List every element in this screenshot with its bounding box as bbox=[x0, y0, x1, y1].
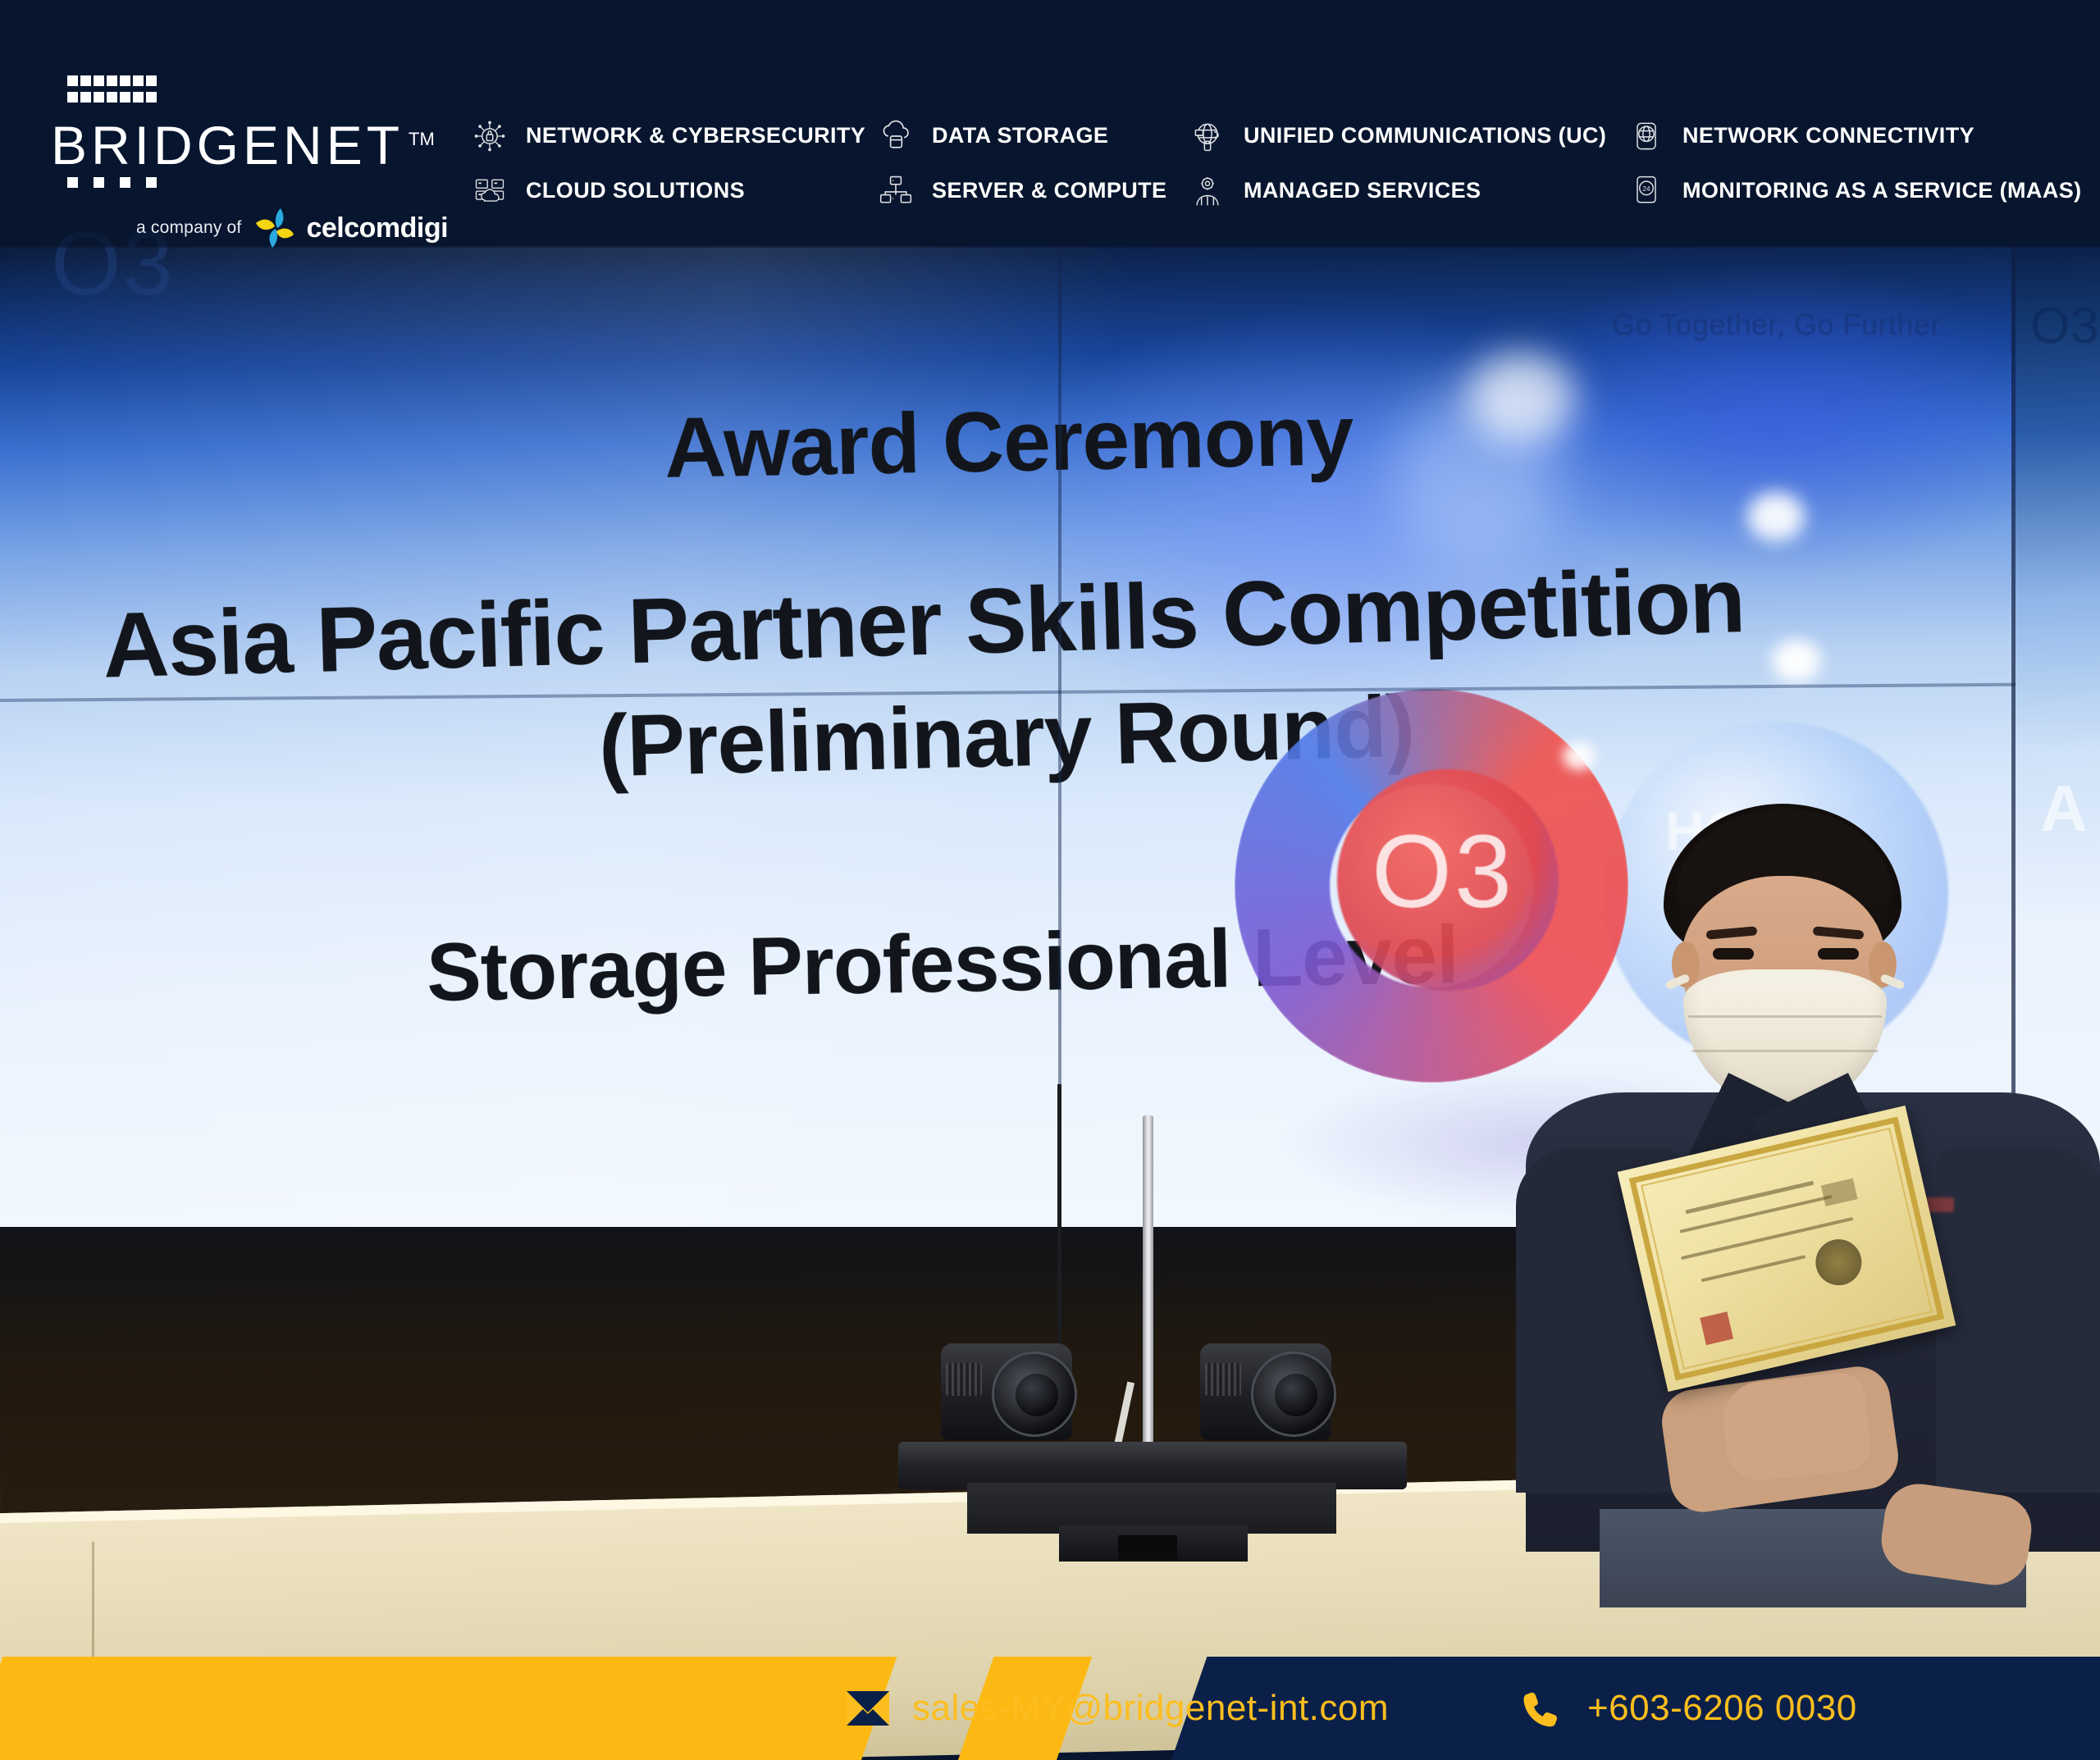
bridgenet-dot-grid-icon bbox=[67, 75, 231, 112]
brand-name: BRIDGENETTM bbox=[51, 118, 436, 172]
brand-mark-o3-label: O3 bbox=[1372, 812, 1514, 931]
phone-handset-icon bbox=[1520, 1688, 1566, 1729]
brand-name-text: BRIDGENET bbox=[51, 115, 404, 176]
promo-banner-page: O3 Go Together, Go Further Award Ceremon… bbox=[0, 0, 2100, 1760]
slide-title: Award Ceremony bbox=[664, 387, 1354, 498]
footer-email-text: sales-MY@bridgenet-int.com bbox=[912, 1688, 1389, 1729]
nav-label: DATA STORAGE bbox=[932, 123, 1108, 148]
footer-phone-contact[interactable]: +603-6206 0030 bbox=[1520, 1688, 1857, 1729]
conference-camera-rig bbox=[898, 1115, 1407, 1558]
slide-tagline: Go Together, Go Further bbox=[1612, 308, 1941, 342]
ptz-camera-left-icon bbox=[941, 1320, 1101, 1452]
nav-item-managed-services[interactable]: MANAGED SERVICES bbox=[1189, 173, 1628, 209]
svg-text:24: 24 bbox=[1642, 185, 1650, 193]
secondary-panel-o3: O3 bbox=[2030, 297, 2100, 355]
nav-label: MANAGED SERVICES bbox=[1244, 178, 1481, 203]
celcomdigi-logo[interactable]: celcomdigi bbox=[253, 207, 448, 249]
nav-item-data-storage[interactable]: DATA STORAGE bbox=[878, 118, 1189, 154]
nav-item-server-compute[interactable]: SERVER & COMPUTE bbox=[878, 173, 1189, 209]
nav-label: MONITORING AS A SERVICE (MAAS) bbox=[1682, 178, 2082, 203]
brand-lockup[interactable]: BRIDGENETTM a company of ce bbox=[51, 75, 436, 249]
envelope-icon bbox=[845, 1688, 891, 1729]
network-security-lock-icon bbox=[472, 118, 508, 154]
service-nav-grid: NETWORK & CYBERSECURITY DATA STORAGE bbox=[472, 108, 2043, 218]
cloud-servers-icon bbox=[472, 173, 508, 209]
ptz-camera-right-icon bbox=[1200, 1320, 1360, 1452]
managed-services-gear-icon bbox=[1189, 173, 1226, 209]
brand-trademark: TM bbox=[409, 129, 435, 149]
parent-company-prefix: a company of bbox=[136, 218, 241, 238]
celcomdigi-wordmark: celcomdigi bbox=[306, 212, 448, 244]
cloud-storage-icon bbox=[878, 118, 914, 154]
nav-label: UNIFIED COMMUNICATIONS (UC) bbox=[1244, 123, 1606, 148]
nav-item-unified-communications[interactable]: UNIFIED COMMUNICATIONS (UC) bbox=[1189, 118, 1628, 154]
footer-contacts: sales-MY@bridgenet-int.com +603-6206 003… bbox=[0, 1657, 2100, 1760]
nav-item-network-connectivity[interactable]: NETWORK CONNECTIVITY bbox=[1628, 118, 2043, 154]
page-header: BRIDGENETTM a company of ce bbox=[0, 0, 2100, 248]
nav-item-monitoring-as-a-service[interactable]: 24 MONITORING AS A SERVICE (MAAS) bbox=[1628, 173, 2043, 209]
nav-item-cloud-solutions[interactable]: CLOUD SOLUTIONS bbox=[472, 173, 878, 209]
celcomdigi-mark-icon bbox=[253, 207, 299, 249]
video-wall-seam-vertical bbox=[1058, 246, 1061, 1230]
nav-label: NETWORK CONNECTIVITY bbox=[1682, 123, 1974, 148]
footer-phone-text: +603-6206 0030 bbox=[1587, 1688, 1857, 1729]
nav-label: SERVER & COMPUTE bbox=[932, 178, 1166, 203]
rig-base-slot bbox=[1118, 1535, 1177, 1560]
footer-email-contact[interactable]: sales-MY@bridgenet-int.com bbox=[845, 1688, 1389, 1729]
nav-label: CLOUD SOLUTIONS bbox=[526, 178, 745, 203]
parent-company-lockup: a company of celcomdigi bbox=[136, 207, 436, 249]
unified-communications-icon bbox=[1189, 118, 1226, 154]
nav-label: NETWORK & CYBERSECURITY bbox=[526, 123, 865, 148]
monitoring-24-7-icon: 24 bbox=[1628, 173, 1664, 209]
recipient-jeans bbox=[1600, 1509, 2026, 1607]
page-footer: sales-MY@bridgenet-int.com +603-6206 003… bbox=[0, 1657, 2100, 1760]
server-network-icon bbox=[878, 173, 914, 209]
event-photo-scene: O3 Go Together, Go Further Award Ceremon… bbox=[0, 0, 2100, 1760]
bridgenet-dot-grid-bottom-icon bbox=[67, 177, 231, 194]
nav-item-network-cybersecurity[interactable]: NETWORK & CYBERSECURITY bbox=[472, 118, 878, 154]
network-globe-icon bbox=[1628, 118, 1664, 154]
